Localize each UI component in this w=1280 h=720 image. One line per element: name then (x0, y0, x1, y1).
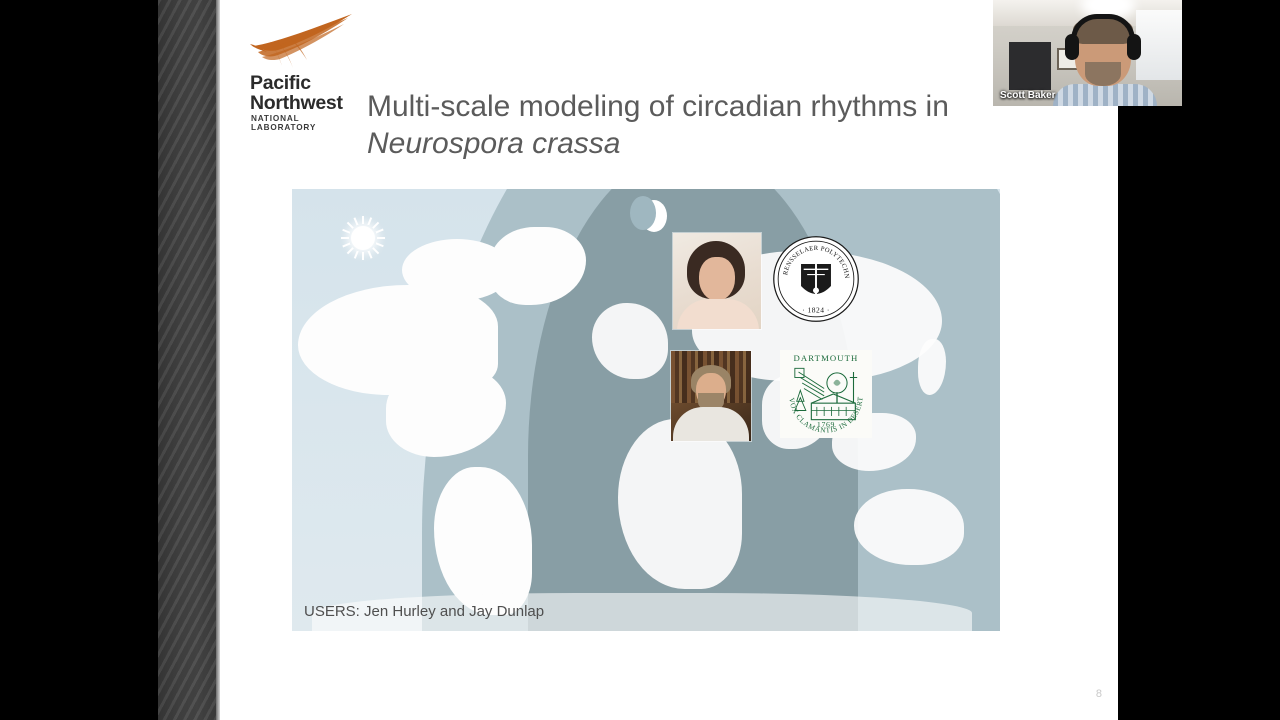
left-decorative-band (158, 0, 219, 720)
pnnl-logo-wordmark: Pacific Northwest (250, 74, 362, 113)
landmass-australia (854, 489, 964, 565)
portrait-jen-hurley (673, 233, 761, 329)
slide-title: Multi-scale modeling of circadian rhythm… (367, 88, 1067, 162)
pnnl-logo: Pacific Northwest NATIONAL LABORATORY (248, 12, 362, 132)
video-background-window (1136, 10, 1182, 80)
pnnl-name-line2: Northwest (250, 94, 362, 114)
screen-root: Pacific Northwest NATIONAL LABORATORY Mu… (0, 0, 1280, 720)
svg-text:1769: 1769 (817, 420, 835, 429)
pnnl-logo-mark (248, 12, 362, 74)
figure-caption: USERS: Jen Hurley and Jay Dunlap (292, 591, 1000, 631)
slide-title-species: Neurospora crassa (367, 127, 620, 160)
participant-name-label: Scott Baker (997, 89, 1059, 102)
video-area-filler (1182, 0, 1280, 106)
headphone-earcup-left (1065, 34, 1079, 60)
pnnl-logo-subtitle: NATIONAL LABORATORY (251, 114, 362, 132)
slide-title-line1: Multi-scale modeling of circadian rhythm… (367, 90, 949, 123)
portrait-jay-dunlap (671, 351, 751, 441)
headphone-earcup-right (1127, 34, 1141, 60)
slide-number: 8 (1096, 688, 1102, 700)
pnnl-name-line1: Pacific (250, 74, 362, 94)
video-participant-shirt (1053, 84, 1157, 106)
sun-icon (340, 215, 386, 261)
slide-figure-world-map: RENSSELAER POLYTECHNIC INSTITUTE · 1824 … (292, 189, 1000, 631)
moon-icon (641, 200, 667, 232)
svg-text:· 1824 ·: · 1824 · (802, 305, 830, 314)
video-participant-beard (1085, 62, 1121, 86)
portrait-face (699, 257, 735, 301)
landmass-canada-arctic (402, 239, 512, 301)
rensselaer-polytechnic-institute-seal: RENSSELAER POLYTECHNIC INSTITUTE · 1824 … (772, 235, 860, 323)
svg-text:DARTMOUTH: DARTMOUTH (794, 353, 859, 363)
video-background-shelf (1009, 42, 1051, 90)
dartmouth-college-seal: DARTMOUTH VOX CLAMANTIS IN DESERTO (780, 350, 872, 438)
participant-video-tile[interactable]: Scott Baker (993, 0, 1182, 106)
presentation-slide: Pacific Northwest NATIONAL LABORATORY Mu… (220, 0, 1118, 720)
sun-core (351, 226, 375, 250)
